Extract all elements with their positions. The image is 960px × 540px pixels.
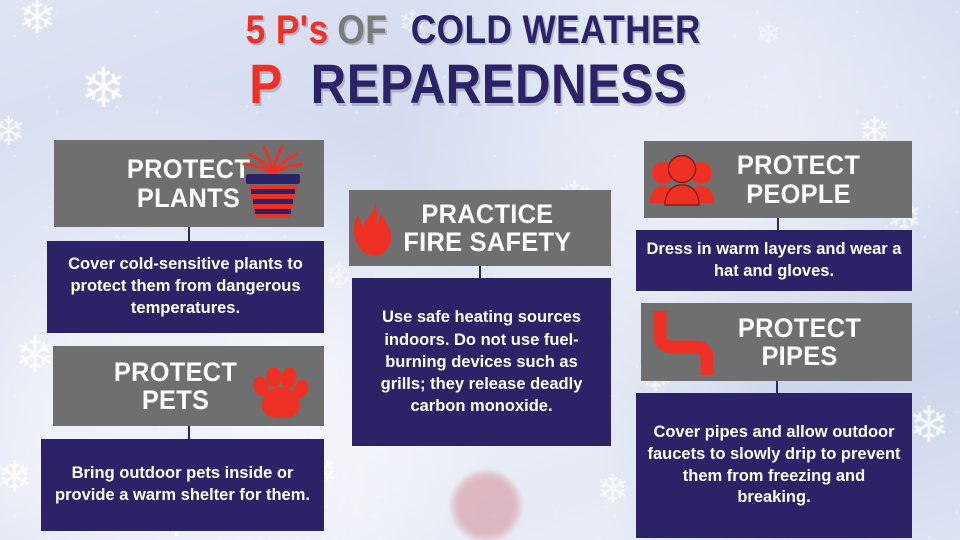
title-part-cold-weather: COLD WEATHER	[410, 10, 700, 50]
poster-title: 5 P's OF COLD WEATHER PREPAREDNESS	[0, 10, 960, 112]
snowflake-icon: ❄	[0, 112, 26, 152]
card-connector-fire	[479, 266, 481, 278]
card-body-fire: Use safe heating sources indoors. Do not…	[352, 278, 611, 446]
card-connector-pipes	[776, 381, 778, 393]
card-connector-people	[777, 218, 779, 230]
card-heading-pipes: PROTECT PIPES	[738, 314, 861, 370]
card-heading-line2: PLANTS	[137, 183, 240, 213]
card-body-pets: Bring outdoor pets inside or provide a w…	[41, 439, 324, 531]
title-part-reparedness: REPAREDNESS	[311, 56, 687, 112]
card-heading-line1: PROTECT	[738, 313, 861, 343]
snowflake-icon: ❄	[908, 400, 950, 450]
card-body-people: Dress in warm layers and wear a hat and …	[636, 230, 912, 291]
snowflake-icon: ❄	[0, 456, 33, 500]
card-heading-plants: PROTECT PLANTS	[127, 155, 250, 211]
title-part-of: OF	[337, 10, 387, 50]
card-protect-plants: PROTECT PLANTS	[47, 140, 324, 333]
title-line-1: 5 P's OF COLD WEATHER	[0, 10, 960, 50]
title-part-p: P	[250, 56, 283, 112]
card-protect-pipes: PROTECT PIPES Cover pipes and allow outd…	[636, 303, 912, 538]
card-heading-line1: PROTECT	[127, 154, 250, 184]
card-heading-line1: PROTECT	[737, 150, 860, 180]
card-heading-line1: PROTECT	[114, 357, 237, 387]
card-heading-line1: PRACTICE	[421, 199, 553, 229]
card-body-plants: Cover cold-sensitive plants to protect t…	[47, 241, 324, 333]
snowflake-icon: ❄	[596, 470, 630, 510]
card-heading-pets: PROTECT PETS	[114, 358, 237, 414]
card-header-pipes: PROTECT PIPES	[641, 303, 912, 381]
bent-pipe-icon	[647, 307, 715, 377]
card-practice-fire-safety: PRACTICE FIRE SAFETY Use safe heating so…	[349, 190, 611, 446]
card-connector-plants	[188, 227, 190, 241]
card-header-plants: PROTECT PLANTS	[54, 140, 324, 227]
infographic-canvas: ❄ ❄ ❄ ❄ ❄ ❄ ❄ ❄ ❄ ❄ ❄ ❄ ❄ ❄ ❄ ❄ ❄ ❄ ❄ 5 …	[0, 0, 960, 540]
card-heading-line2: PEOPLE	[747, 179, 852, 209]
card-heading-line2: FIRE SAFETY	[403, 227, 571, 257]
card-heading-fire: PRACTICE FIRE SAFETY	[403, 200, 571, 256]
title-line-2: PREPAREDNESS	[0, 56, 960, 112]
card-body-pipes: Cover pipes and allow outdoor faucets to…	[636, 393, 912, 538]
paw-print-icon	[248, 368, 310, 422]
card-connector-pets	[188, 426, 190, 439]
potted-plant-icon	[234, 144, 312, 220]
card-header-fire: PRACTICE FIRE SAFETY	[349, 190, 611, 266]
flame-icon	[353, 200, 393, 258]
card-protect-pets: PROTECT PETS Bring outdoor pets inside o…	[41, 346, 324, 531]
card-heading-line2: PIPES	[761, 341, 837, 371]
card-protect-people: PROTECT PEOPLE Dress in warm layers and …	[636, 141, 912, 291]
card-header-people: PROTECT PEOPLE	[644, 141, 912, 218]
people-group-icon	[650, 155, 714, 207]
card-heading-people: PROTECT PEOPLE	[737, 151, 860, 207]
card-header-pets: PROTECT PETS	[53, 346, 324, 426]
title-part-5ps: 5 P's	[245, 10, 328, 50]
card-heading-line2: PETS	[142, 385, 209, 415]
faint-circular-watermark	[450, 470, 522, 540]
